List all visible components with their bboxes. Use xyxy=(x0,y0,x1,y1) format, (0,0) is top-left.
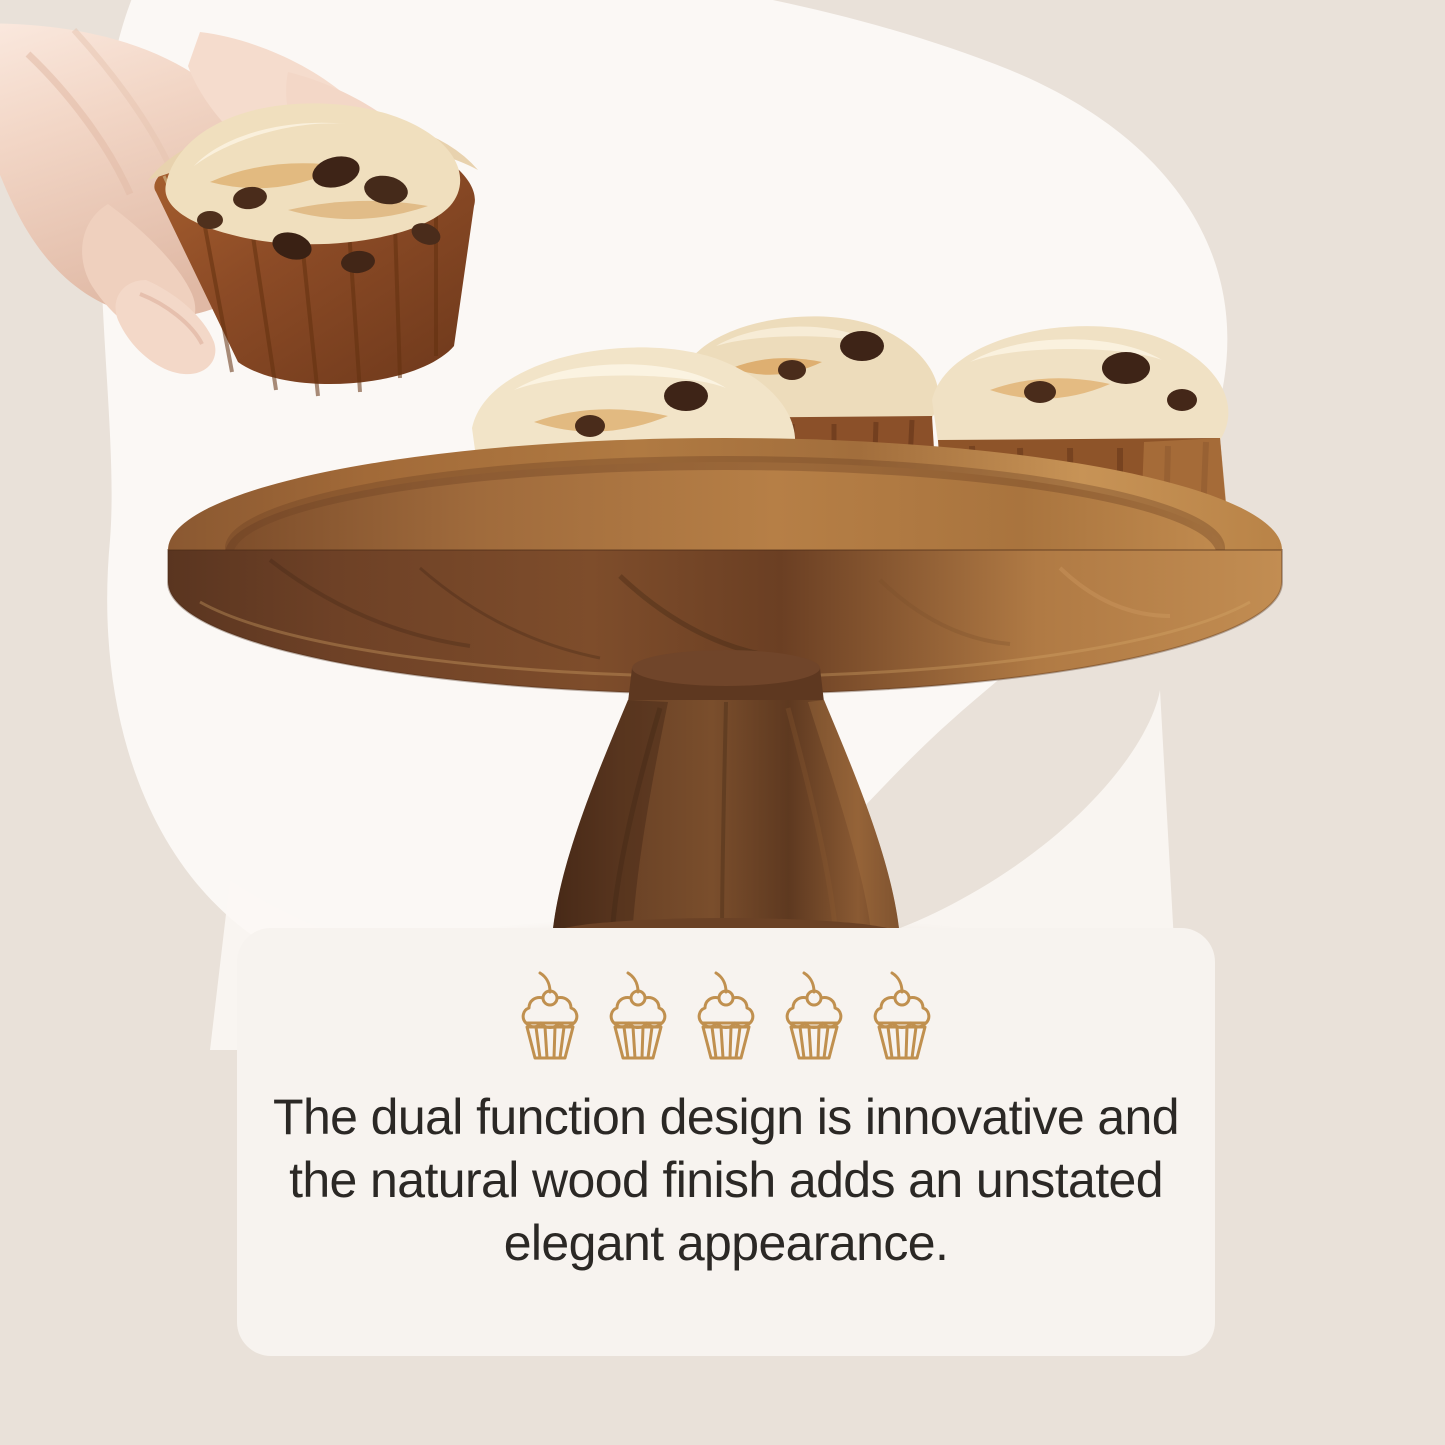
cupcake-icon xyxy=(781,970,847,1064)
cupcake-icon xyxy=(869,970,935,1064)
review-quote: The dual function design is innovative a… xyxy=(266,1086,1186,1275)
cupcake-icon xyxy=(693,970,759,1064)
cupcake-rating xyxy=(517,964,935,1064)
cupcake-icon xyxy=(517,970,583,1064)
review-card: The dual function design is innovative a… xyxy=(237,928,1215,1356)
product-marketing-image: The dual function design is innovative a… xyxy=(0,0,1445,1445)
hand-holding-muffin-icon xyxy=(0,0,518,424)
cupcake-icon xyxy=(605,970,671,1064)
